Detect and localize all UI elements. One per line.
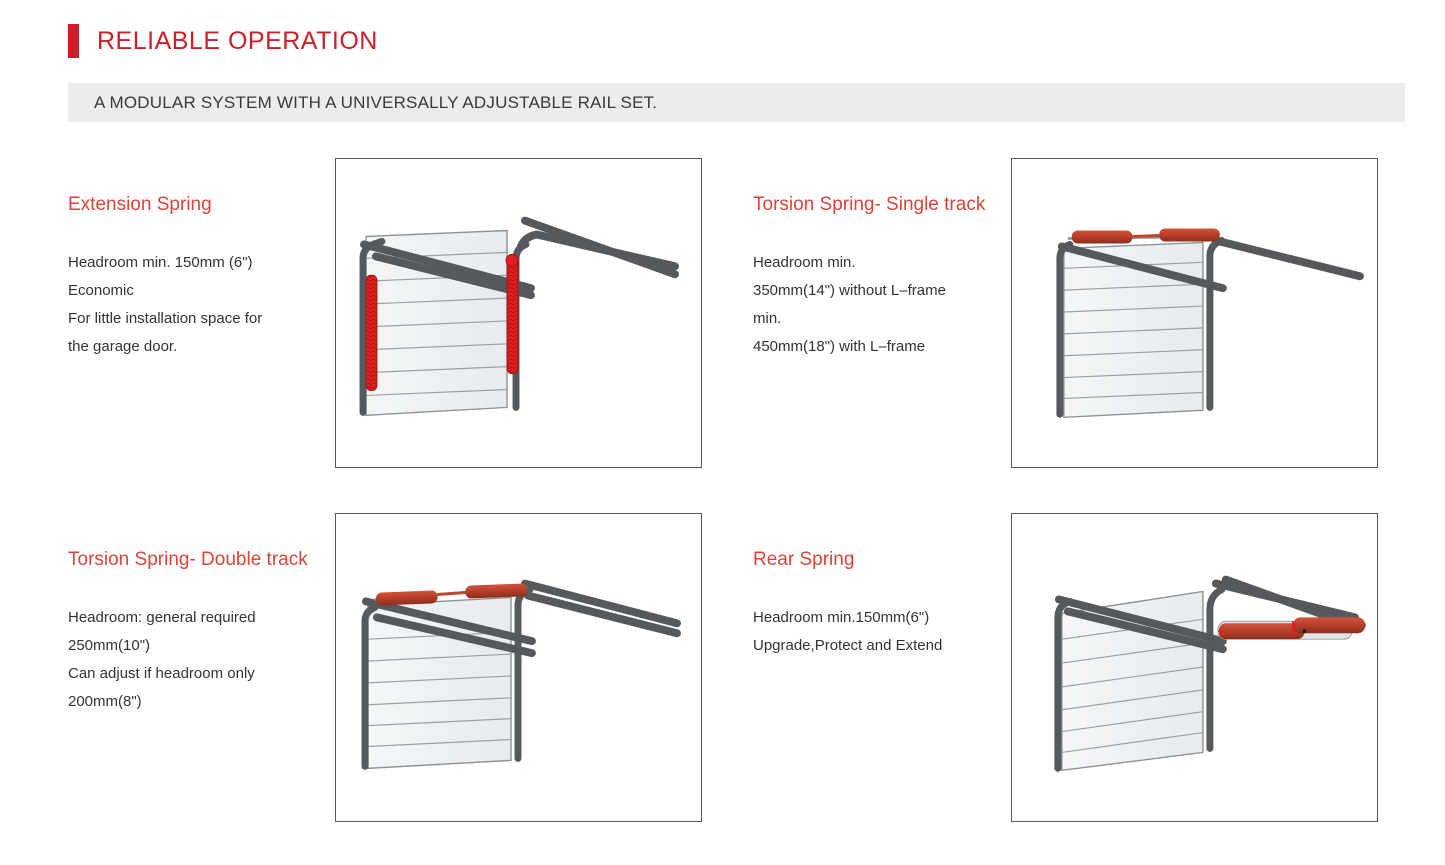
page-root: RELIABLE OPERATION A MODULAR SYSTEM WITH…: [0, 0, 1445, 865]
subtitle-text: A MODULAR SYSTEM WITH A UNIVERSALLY ADJU…: [94, 93, 657, 113]
torsion-single-track-diagram: [1011, 158, 1378, 468]
section-body: Headroom min. 150mm (6") Economic For li…: [68, 249, 326, 361]
page-header: RELIABLE OPERATION: [68, 24, 378, 58]
torsion-double-track-diagram: [335, 513, 702, 822]
extension-spring-diagram: [335, 158, 702, 468]
section-text-extension-spring: Extension Spring Headroom min. 150mm (6"…: [68, 192, 326, 361]
section-body: Headroom min. 350mm(14") without L–frame…: [753, 249, 1015, 361]
title-accent-bar: [68, 24, 79, 58]
section-body: Headroom min.150mm(6") Upgrade,Protect a…: [753, 604, 1015, 660]
section-title: Extension Spring: [68, 192, 326, 217]
rear-spring-diagram: [1011, 513, 1378, 822]
section-title: Torsion Spring- Double track: [68, 547, 326, 572]
section-title: Torsion Spring- Single track: [753, 192, 1015, 217]
section-text-rear-spring: Rear Spring Headroom min.150mm(6") Upgra…: [753, 547, 1015, 660]
page-title: RELIABLE OPERATION: [97, 27, 378, 56]
section-text-torsion-single: Torsion Spring- Single track Headroom mi…: [753, 192, 1015, 361]
subtitle-banner: A MODULAR SYSTEM WITH A UNIVERSALLY ADJU…: [68, 83, 1405, 122]
section-text-torsion-double: Torsion Spring- Double track Headroom: g…: [68, 547, 326, 716]
section-title: Rear Spring: [753, 547, 1015, 572]
section-body: Headroom: general required 250mm(10") Ca…: [68, 604, 326, 716]
